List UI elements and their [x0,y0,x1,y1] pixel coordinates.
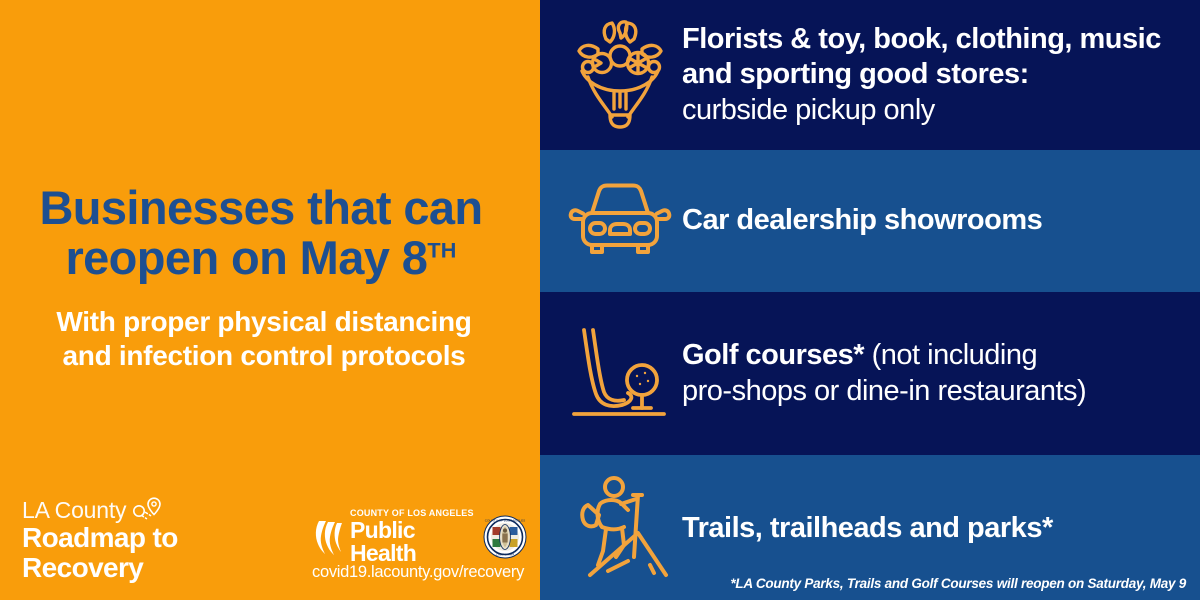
recovery-url[interactable]: covid19.lacounty.gov/recovery [312,563,527,582]
panel-golf-courses-line-1: Golf courses* (not including [682,338,1086,373]
flower-bouquet-icon [558,19,682,131]
roadmap-title: Roadmap to Recovery [22,523,292,582]
panel-trails-parks-text: Trails, trailheads and parks* [682,509,1069,546]
hiker-mountain-icon [558,473,682,583]
headline-ordinal-suffix: TH [427,237,456,262]
panel-trails-parks: Trails, trailheads and parks* *LA County… [540,455,1200,600]
subheading: With proper physical distancing and infe… [12,305,516,372]
public-health-logo-lockup: County of Los Angeles Public Health [312,514,527,582]
panel-florists-line-2: and sporting good stores: [682,57,1161,92]
car-front-icon [558,179,682,263]
infographic-poster: Businesses that can reopen on May 8TH Wi… [0,0,1200,600]
panel-list: Florists & toy, book, clothing, music an… [540,0,1200,600]
map-pin-route-icon [130,496,164,522]
panel-car-dealerships: Car dealership showrooms [540,150,1200,292]
public-health-name: Public Health [350,519,475,565]
panel-florists-text: Florists & toy, book, clothing, music an… [682,22,1177,128]
la-county-seal-icon: COUNTY OF LOS ANGELES CALIFORNIA [483,515,527,559]
footnote: *LA County Parks, Trails and Golf Course… [730,576,1186,591]
subheading-line-2: and infection control protocols [12,339,516,373]
panel-florists-line-1: Florists & toy, book, clothing, music [682,22,1161,57]
panel-golf-courses-line-1-bold: Golf courses* [682,339,864,371]
panel-car-dealerships-line-1: Car dealership showrooms [682,203,1042,238]
page-title: Businesses that can reopen on May 8TH [0,183,522,283]
panel-trails-parks-line-1: Trails, trailheads and parks* [682,511,1053,546]
left-orange-panel: Businesses that can reopen on May 8TH Wi… [0,0,540,600]
panel-golf-courses-line-1-regular: (not including [864,339,1037,371]
golf-club-ball-icon [558,322,682,426]
headline-line-1: Businesses that can [39,181,482,234]
public-health-swoosh-icon [312,517,344,557]
headline-line-2-text: reopen on May 8 [65,231,427,284]
roadmap-to-recovery-logo: LA County Roadmap to Recovery [22,496,292,582]
panel-golf-courses-line-2: pro-shops or dine-in restaurants) [682,374,1086,409]
roadmap-logo-top-row: LA County [22,496,292,522]
la-county-wordmark: LA County [22,499,126,522]
subheading-line-1: With proper physical distancing [12,305,516,339]
panel-florists: Florists & toy, book, clothing, music an… [540,0,1200,150]
panel-florists-line-3: curbside pickup only [682,93,1161,128]
public-health-logo-row: County of Los Angeles Public Health [312,514,527,560]
svg-text:COUNTY OF LOS ANGELES: COUNTY OF LOS ANGELES [485,518,526,522]
panel-car-dealerships-text: Car dealership showrooms [682,203,1058,238]
panel-golf-courses: Golf courses* (not including pro-shops o… [540,292,1200,455]
svg-text:CALIFORNIA: CALIFORNIA [496,553,516,557]
public-health-wordmark: County of Los Angeles Public Health [350,509,475,565]
headline-line-2: reopen on May 8TH [0,233,522,283]
panel-golf-courses-text: Golf courses* (not including pro-shops o… [682,338,1102,409]
